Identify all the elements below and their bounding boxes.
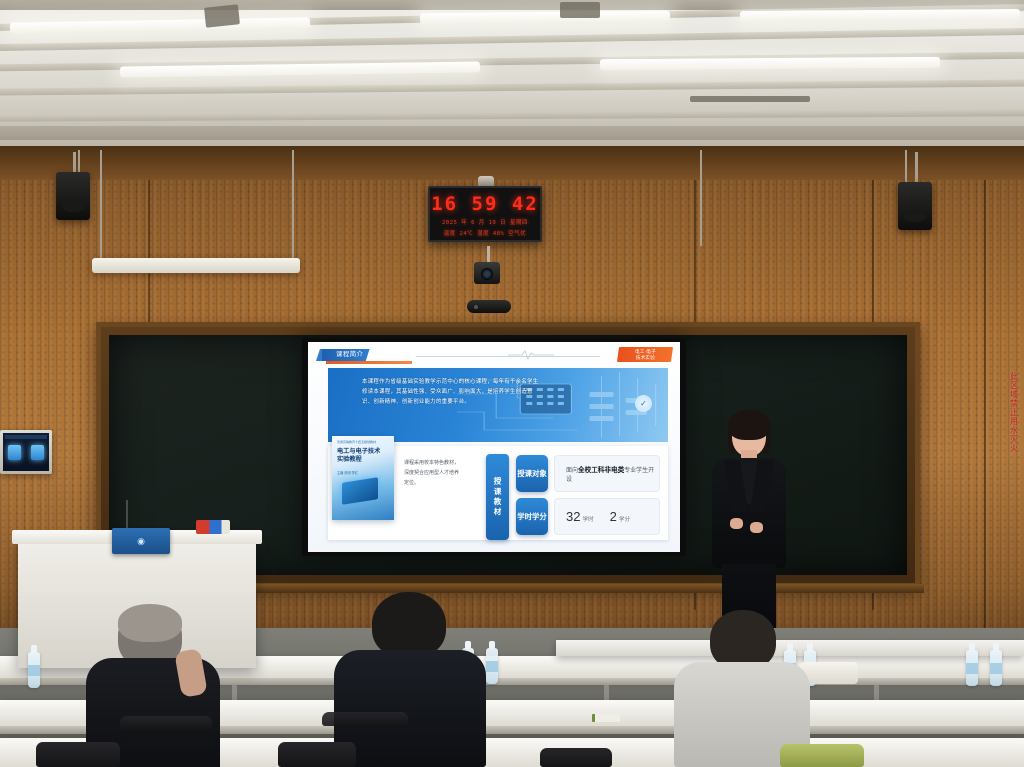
chair [36,742,120,767]
certificate-icon: ✓ [635,395,652,412]
ceiling-light [600,57,940,70]
textbook-publisher: 普通高等教育十四五规划教材 [337,440,376,444]
slide-label-credit-hours: 学时学分 [516,498,548,535]
course-hours-value: 32 [566,509,580,524]
led-clock: 16 59 42 2025 年 6 月 19 日 星期四 温度 24℃ 湿度 4… [428,186,542,242]
credit-hours-values: 32学时 2学分 [566,508,630,526]
ceiling-hanger-rod [700,150,702,246]
slide-body-card: 普通高等教育十四五规划教材 电工与电子技术 实验教程 主编 张明 李红 课程采用… [328,446,668,540]
slide-section-title: 课程简介 [322,349,370,361]
ceiling-vent [560,2,600,18]
chair [540,748,612,767]
control-panel-projector-button[interactable] [8,445,21,460]
bottle-label [966,663,978,674]
course-logo-text: 电工·电子技术实验 [635,349,656,360]
fire-warning-banner: 此区域禁止用水灭火 [1006,352,1022,472]
slide-title-bar: 课程简介 [322,349,370,361]
bottle-label [990,663,1002,674]
course-hours-unit: 学时 [582,517,593,523]
speaker-mount-arm [915,152,918,184]
chair [120,716,212,730]
textbook-byline: 主编 张明 李红 [337,470,358,475]
textbook-caption: 课程采用校本特色教材，深度契合应用型人才培养定位。 [404,458,462,488]
course-credits-unit: 学分 [619,517,630,523]
bottle-label [28,665,40,676]
water-bottle [28,652,40,688]
wall-seam [984,180,986,640]
textbook-title: 电工与电子技术 实验教程 [337,448,389,465]
slide-title-underline [326,361,412,364]
ceiling-vent [204,4,240,27]
microphone-led-icon [474,305,478,309]
ceiling-vent [690,96,810,102]
slide-hero-paragraph: 本课程作为省级基础实验教学示范中心的核心课程，每年有千余名学生修读本课程，其基础… [362,377,542,407]
course-credits: 2学分 [610,508,630,526]
wall-speaker [56,172,90,220]
clock-time: 16 59 42 [431,193,539,215]
audience-highlight: 全校工科非电类 [578,467,624,474]
attendee-hair [118,604,182,642]
course-hours: 32学时 [566,508,594,526]
wall-speaker [898,182,932,230]
chip-illustration-icon [342,477,378,505]
clock-date: 2025 年 6 月 19 日 星期四 [442,218,528,226]
presentation-slide: 课程简介 电工·电子技术实验 [308,342,680,552]
slide-vertical-tab-label: 授课教材 [492,477,503,517]
slide-row-credit-hours: 32学时 2学分 [554,498,660,535]
camera-lens-icon [481,268,493,280]
clock-environment: 温度 24℃ 湿度 48% 空气优 [444,229,527,237]
ceiling-light [10,17,310,33]
classroom-scene: 此区域禁止用水灭火 16 59 42 2025 年 6 月 19 日 星期四 温… [0,0,1024,767]
lectern-monitor-icon: ◉ [137,536,145,547]
presenter-hand-left [730,518,743,529]
water-bottle [990,650,1002,686]
slide-row-audience-text: 面向全校工科非电类专业学生开设 [566,464,660,483]
chair [278,742,356,767]
lectern-monitor[interactable]: ◉ [112,528,170,554]
slide-row-audience: 面向全校工科非电类专业学生开设 [554,455,660,492]
water-bottle [966,650,978,686]
lectern-markers [196,520,230,534]
presenter-hair [728,410,770,440]
notebook [592,714,620,722]
presenter-hand-right [750,522,763,533]
slide-label-audience: 授课对象 [516,455,548,492]
ceiling [0,0,1024,152]
attendee-head [710,610,776,670]
wall-upper-shadow [0,146,1024,180]
slide-vertical-tab-teaching-material: 授课教材 [486,454,509,540]
wall-control-panel[interactable] [0,430,52,474]
audience-prefix: 面向 [566,468,578,474]
slide-hero-banner: 本课程作为省级基础实验教学示范中心的核心课程，每年有千余名学生修读本课程，其基础… [328,368,668,442]
control-panel-screen[interactable] [3,433,49,471]
ceiling-hanger-rod [292,150,294,258]
ceiling-light [740,9,1020,22]
attendee-head [372,592,446,658]
textbook-cover: 普通高等教育十四五规划教材 电工与电子技术 实验教程 主编 张明 李红 [332,436,394,520]
ceiling-light [420,11,670,25]
chair [780,744,864,767]
attendee-torso [334,650,486,767]
attendee-middle [330,592,490,767]
control-panel-power-button[interactable] [31,445,44,460]
wall-light-fixture [92,258,300,273]
pulse-line-icon [508,349,554,361]
ceiling-hanger-rod [100,150,102,258]
course-credits-value: 2 [610,509,617,524]
course-logo: 电工·电子技术实验 [617,347,673,362]
chair [322,712,408,726]
projection-screen[interactable]: 课程简介 电工·电子技术实验 [302,338,686,556]
ceiling-hanger-rod [78,150,80,174]
control-panel-titlebar [5,435,47,439]
